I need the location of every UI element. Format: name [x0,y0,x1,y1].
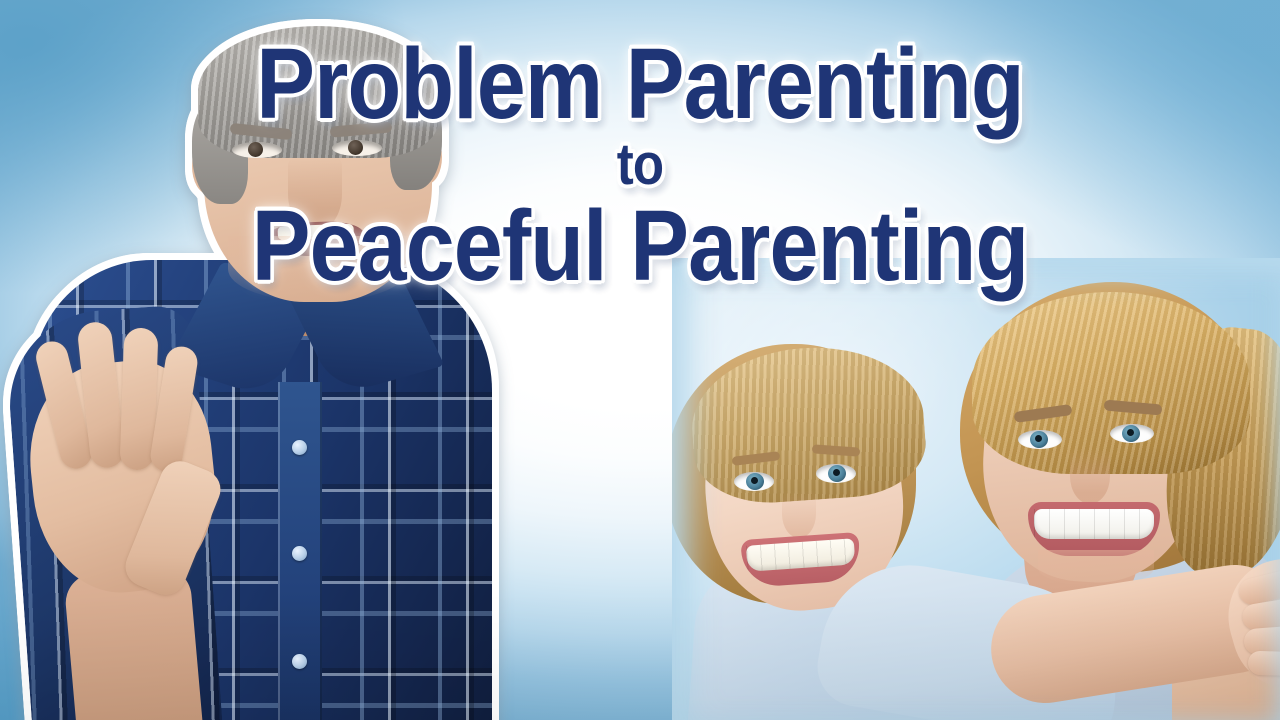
speaking-man-silhouette [0,10,512,720]
mother-teeth [1034,509,1154,539]
man-shirt-button-3 [292,654,307,669]
mother-and-daughter-photo [672,258,1280,720]
man-shirt-button-1 [292,440,307,455]
daughter-teeth [746,538,856,571]
mother-eye-right [1110,424,1154,443]
speaking-man-cutout [0,10,512,720]
man-eye-right [332,140,382,156]
mother-smile [1028,502,1160,556]
mother-nose [1070,448,1110,504]
man-hair [198,26,438,158]
man-jaw [228,236,408,302]
man-eye-left [232,142,282,158]
mother-eye-left [1018,430,1062,449]
thumbnail-canvas: Problem Parenting to Peaceful Parenting [0,0,1280,720]
daughter-nose [782,490,816,538]
mother-hair-front [972,292,1250,474]
man-nose [288,156,342,232]
daughter-eye-left [734,472,774,491]
man-shirt-button-2 [292,546,307,561]
daughter-eye-right [816,464,856,483]
